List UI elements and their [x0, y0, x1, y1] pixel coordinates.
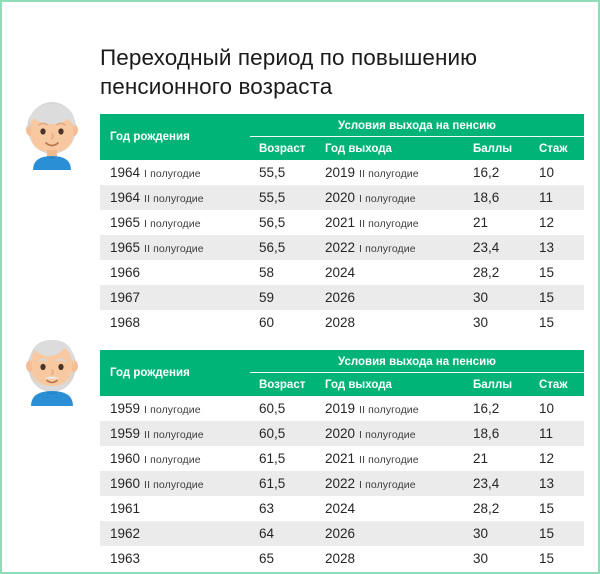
exit-year-value: 2021 — [325, 215, 355, 230]
table-row: 1959II полугодие 60,5 2020I полугодие 18… — [100, 421, 584, 446]
col-header-age: Возраст — [250, 137, 314, 160]
table-body: 1959I полугодие 60,5 2019II полугодие 16… — [100, 396, 584, 571]
birth-year-value: 1964 — [110, 165, 140, 180]
cell-exit-year: 2019II полугодие — [314, 396, 464, 421]
col-header-exit-year: Год выхода — [314, 373, 464, 396]
cell-exit-year: 2021II полугодие — [314, 446, 464, 471]
cell-birth-year: 1959I полугодие — [100, 396, 250, 421]
exit-year-value: 2020 — [325, 426, 355, 441]
exit-year-value: 2019 — [325, 401, 355, 416]
header-divider-rule — [250, 372, 584, 373]
birth-half-label: I полугодие — [144, 168, 201, 180]
cell-birth-year: 1959II полугодие — [100, 421, 250, 446]
birth-year-value: 1961 — [110, 501, 140, 516]
cell-points: 30 — [464, 546, 530, 571]
cell-points: 30 — [464, 285, 530, 310]
col-header-birth-year: Год рождения — [100, 350, 250, 396]
cell-experience: 15 — [530, 285, 584, 310]
cell-age: 59 — [250, 285, 314, 310]
table-row: 1961 63 2024 28,2 15 — [100, 496, 584, 521]
exit-year-value: 2024 — [325, 265, 355, 280]
exit-year-value: 2024 — [325, 501, 355, 516]
cell-points: 30 — [464, 521, 530, 546]
cell-birth-year: 1966 — [100, 260, 250, 285]
exit-year-value: 2028 — [325, 551, 355, 566]
cell-exit-year: 2024 — [314, 260, 464, 285]
cell-birth-year: 1965II полугодие — [100, 235, 250, 260]
infographic-page: Переходный период по повышению пенсионно… — [0, 0, 600, 574]
elderly-woman-avatar — [21, 98, 83, 170]
table-head: Год рождения Условия выхода на пенсию Во… — [100, 350, 584, 396]
cell-birth-year: 1962 — [100, 521, 250, 546]
cell-experience: 15 — [530, 310, 584, 335]
birth-half-label: II полугодие — [144, 243, 204, 255]
cell-birth-year: 1968 — [100, 310, 250, 335]
col-header-points: Баллы — [464, 137, 530, 160]
table-row: 1965I полугодие 56,5 2021II полугодие 21… — [100, 210, 584, 235]
cell-exit-year: 2022I полугодие — [314, 471, 464, 496]
cell-exit-year: 2028 — [314, 310, 464, 335]
pension-table-men: Год рождения Условия выхода на пенсию Во… — [100, 350, 584, 571]
birth-year-value: 1964 — [110, 190, 140, 205]
exit-half-label: I полугодие — [359, 193, 416, 205]
col-header-experience: Стаж — [530, 137, 584, 160]
cell-experience: 12 — [530, 210, 584, 235]
group-header-label: Условия выхода на пенсию — [338, 120, 496, 132]
exit-year-value: 2026 — [325, 290, 355, 305]
birth-year-value: 1959 — [110, 426, 140, 441]
table-row: 1959I полугодие 60,5 2019II полугодие 16… — [100, 396, 584, 421]
col-header-points: Баллы — [464, 373, 530, 396]
exit-half-label: II полугодие — [359, 168, 419, 180]
table-row: 1962 64 2026 30 15 — [100, 521, 584, 546]
table-row: 1964II полугодие 55,5 2020I полугодие 18… — [100, 185, 584, 210]
pension-table-women-wrapper: Год рождения Условия выхода на пенсию Во… — [100, 114, 584, 335]
cell-experience: 15 — [530, 546, 584, 571]
cell-age: 55,5 — [250, 185, 314, 210]
cell-age: 63 — [250, 496, 314, 521]
cell-points: 23,4 — [464, 471, 530, 496]
col-header-group-conditions: Условия выхода на пенсию — [250, 350, 584, 373]
col-header-experience: Стаж — [530, 373, 584, 396]
birth-year-value: 1960 — [110, 451, 140, 466]
group-header-label: Условия выхода на пенсию — [338, 356, 496, 368]
cell-birth-year: 1961 — [100, 496, 250, 521]
cell-experience: 10 — [530, 160, 584, 185]
exit-half-label: II полугодие — [359, 454, 419, 466]
cell-age: 56,5 — [250, 235, 314, 260]
birth-year-value: 1963 — [110, 551, 140, 566]
birth-year-value: 1962 — [110, 526, 140, 541]
cell-points: 21 — [464, 210, 530, 235]
cell-age: 60,5 — [250, 421, 314, 446]
cell-experience: 13 — [530, 235, 584, 260]
exit-half-label: I полугодие — [359, 429, 416, 441]
birth-half-label: II полугодие — [144, 479, 204, 491]
table-row: 1963 65 2028 30 15 — [100, 546, 584, 571]
cell-experience: 10 — [530, 396, 584, 421]
table-row: 1960I полугодие 61,5 2021II полугодие 21… — [100, 446, 584, 471]
table-row: 1966 58 2024 28,2 15 — [100, 260, 584, 285]
cell-points: 21 — [464, 446, 530, 471]
header-row-top: Год рождения Условия выхода на пенсию — [100, 350, 584, 373]
cell-birth-year: 1964II полугодие — [100, 185, 250, 210]
cell-exit-year: 2026 — [314, 285, 464, 310]
cell-points: 30 — [464, 310, 530, 335]
exit-year-value: 2021 — [325, 451, 355, 466]
birth-half-label: II полугодие — [144, 193, 204, 205]
cell-exit-year: 2028 — [314, 546, 464, 571]
header-row-top: Год рождения Условия выхода на пенсию — [100, 114, 584, 137]
cell-exit-year: 2020I полугодие — [314, 421, 464, 446]
col-header-group-conditions: Условия выхода на пенсию — [250, 114, 584, 137]
exit-half-label: I полугодие — [359, 479, 416, 491]
cell-birth-year: 1960II полугодие — [100, 471, 250, 496]
cell-birth-year: 1964I полугодие — [100, 160, 250, 185]
cell-experience: 11 — [530, 185, 584, 210]
cell-exit-year: 2021II полугодие — [314, 210, 464, 235]
birth-year-value: 1968 — [110, 315, 140, 330]
birth-year-value: 1967 — [110, 290, 140, 305]
cell-exit-year: 2020I полугодие — [314, 185, 464, 210]
cell-age: 64 — [250, 521, 314, 546]
exit-half-label: I полугодие — [359, 243, 416, 255]
cell-points: 18,6 — [464, 185, 530, 210]
col-header-birth-year: Год рождения — [100, 114, 250, 160]
cell-exit-year: 2022I полугодие — [314, 235, 464, 260]
pension-table-women: Год рождения Условия выхода на пенсию Во… — [100, 114, 584, 335]
table-row: 1967 59 2026 30 15 — [100, 285, 584, 310]
birth-half-label: I полугодие — [144, 404, 201, 416]
cell-experience: 15 — [530, 260, 584, 285]
birth-year-value: 1966 — [110, 265, 140, 280]
table-row: 1968 60 2028 30 15 — [100, 310, 584, 335]
exit-year-value: 2020 — [325, 190, 355, 205]
birth-year-value: 1965 — [110, 240, 140, 255]
cell-age: 58 — [250, 260, 314, 285]
man-shirt — [31, 391, 73, 406]
cell-birth-year: 1967 — [100, 285, 250, 310]
cell-exit-year: 2024 — [314, 496, 464, 521]
table-body: 1964I полугодие 55,5 2019II полугодие 16… — [100, 160, 584, 335]
exit-year-value: 2022 — [325, 240, 355, 255]
cell-birth-year: 1960I полугодие — [100, 446, 250, 471]
cell-age: 56,5 — [250, 210, 314, 235]
cell-age: 55,5 — [250, 160, 314, 185]
cell-age: 60,5 — [250, 396, 314, 421]
cell-points: 28,2 — [464, 260, 530, 285]
birth-half-label: I полугодие — [144, 454, 201, 466]
cell-birth-year: 1963 — [100, 546, 250, 571]
cell-age: 60 — [250, 310, 314, 335]
table-row: 1965II полугодие 56,5 2022I полугодие 23… — [100, 235, 584, 260]
cell-experience: 15 — [530, 496, 584, 521]
header-divider-rule — [250, 136, 584, 137]
cell-points: 18,6 — [464, 421, 530, 446]
cell-age: 61,5 — [250, 471, 314, 496]
cell-experience: 11 — [530, 421, 584, 446]
cell-points: 23,4 — [464, 235, 530, 260]
col-header-age: Возраст — [250, 373, 314, 396]
cell-age: 61,5 — [250, 446, 314, 471]
exit-year-value: 2022 — [325, 476, 355, 491]
pension-table-men-wrapper: Год рождения Условия выхода на пенсию Во… — [100, 350, 584, 571]
page-title: Переходный период по повышению пенсионно… — [100, 43, 570, 101]
birth-year-value: 1965 — [110, 215, 140, 230]
col-header-exit-year: Год выхода — [314, 137, 464, 160]
birth-year-value: 1959 — [110, 401, 140, 416]
exit-half-label: II полугодие — [359, 218, 419, 230]
exit-year-value: 2019 — [325, 165, 355, 180]
table-row: 1964I полугодие 55,5 2019II полугодие 16… — [100, 160, 584, 185]
birth-half-label: II полугодие — [144, 429, 204, 441]
elderly-man-avatar — [21, 334, 83, 406]
woman-shirt — [33, 156, 71, 170]
exit-half-label: II полугодие — [359, 404, 419, 416]
cell-experience: 12 — [530, 446, 584, 471]
cell-points: 28,2 — [464, 496, 530, 521]
table-row: 1960II полугодие 61,5 2022I полугодие 23… — [100, 471, 584, 496]
cell-exit-year: 2019II полугодие — [314, 160, 464, 185]
cell-birth-year: 1965I полугодие — [100, 210, 250, 235]
birth-half-label: I полугодие — [144, 218, 201, 230]
cell-age: 65 — [250, 546, 314, 571]
cell-points: 16,2 — [464, 396, 530, 421]
table-head: Год рождения Условия выхода на пенсию Во… — [100, 114, 584, 160]
exit-year-value: 2026 — [325, 526, 355, 541]
exit-year-value: 2028 — [325, 315, 355, 330]
cell-experience: 13 — [530, 471, 584, 496]
birth-year-value: 1960 — [110, 476, 140, 491]
cell-exit-year: 2026 — [314, 521, 464, 546]
cell-experience: 15 — [530, 521, 584, 546]
cell-points: 16,2 — [464, 160, 530, 185]
